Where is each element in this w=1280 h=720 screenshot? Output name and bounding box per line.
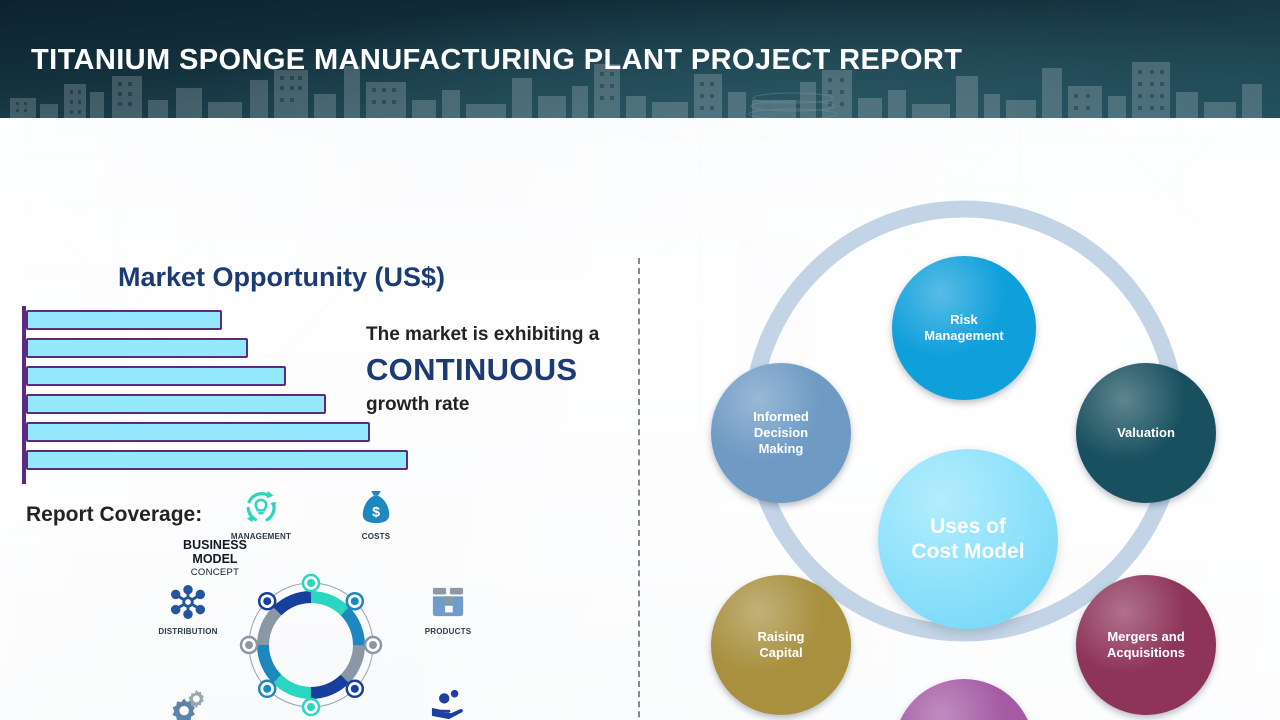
uses-node-line-2: Acquisitions [1101,645,1191,661]
bar-2 [26,338,248,358]
coverage-item-distribution: DISTRIBUTION [152,581,224,636]
uses-node-line-1: Informed [747,409,815,425]
money-bag-icon: $ [340,486,412,528]
uses-node-line-1: Risk [918,312,1009,328]
coverage-label: MANAGEMENT [225,532,297,541]
header-banner: TITANIUM SPONGE MANUFACTURING PLANT PROJ… [0,0,1280,118]
uses-node-line-1: Raising [752,629,811,645]
wheel-line-2: MODEL [140,552,290,566]
center-node-uses-of-cost-model: Uses of Cost Model [878,449,1058,629]
package-box-icon [412,581,484,623]
recycle-lightbulb-icon [225,486,297,528]
uses-node-line-1: Mergers and [1101,629,1191,645]
page-title: TITANIUM SPONGE MANUFACTURING PLANT PROJ… [31,44,962,77]
gears-icon [152,684,224,720]
bar-6 [26,450,408,470]
center-line-2: Cost Model [911,539,1024,564]
coverage-label: PRODUCTS [412,627,484,636]
coverage-label: COSTS [340,532,412,541]
svg-text:$: $ [372,504,380,520]
slide-body: Market Opportunity (US$) The market is e… [0,118,1280,720]
slide-canvas: TITANIUM SPONGE MANUFACTURING PLANT PROJ… [0,0,1280,720]
growth-line-1: The market is exhibiting a [366,322,634,348]
bar-5 [26,422,370,442]
uses-node-line-1: Valuation [1111,425,1181,441]
uses-node-line-2: Capital [752,645,811,661]
uses-node-line-2: Decision [747,425,815,441]
growth-emphasis: CONTINUOUS [366,348,634,392]
coverage-item-revenue: REVENUE [412,684,484,720]
market-opportunity-bar-chart [22,306,402,484]
coverage-item-management: MANAGEMENT [225,486,297,541]
bar-4 [26,394,326,414]
uses-node-mergers-and-acquisitions[interactable]: Mergers andAcquisitions [1076,575,1216,715]
market-opportunity-title: Market Opportunity (US$) [118,262,445,293]
coverage-label: DISTRIBUTION [152,627,224,636]
business-model-wheel [236,570,386,720]
coverage-item-services: SERVICES [152,684,224,720]
panel-divider [638,258,640,720]
uses-node-line-2: Management [918,328,1009,344]
network-nodes-icon [152,581,224,623]
bar-1 [26,310,222,330]
uses-node-informed-decision-making[interactable]: InformedDecisionMaking [711,363,851,503]
report-coverage-diagram: BUSINESS MODEL CONCEPT [140,486,480,720]
uses-node-raising-capital[interactable]: RaisingCapital [711,575,851,715]
hand-coins-icon [412,684,484,720]
coverage-item-costs: $ COSTS [340,486,412,541]
uses-node-line-3: Making [747,441,815,457]
uses-node-risk-management[interactable]: RiskManagement [892,256,1036,400]
coverage-item-products: PRODUCTS [412,581,484,636]
growth-callout: The market is exhibiting a CONTINUOUS gr… [366,322,634,418]
growth-line-3: growth rate [366,392,634,418]
uses-node-valuation[interactable]: Valuation [1076,363,1216,503]
bar-3 [26,366,286,386]
center-line-1: Uses of [911,514,1024,539]
